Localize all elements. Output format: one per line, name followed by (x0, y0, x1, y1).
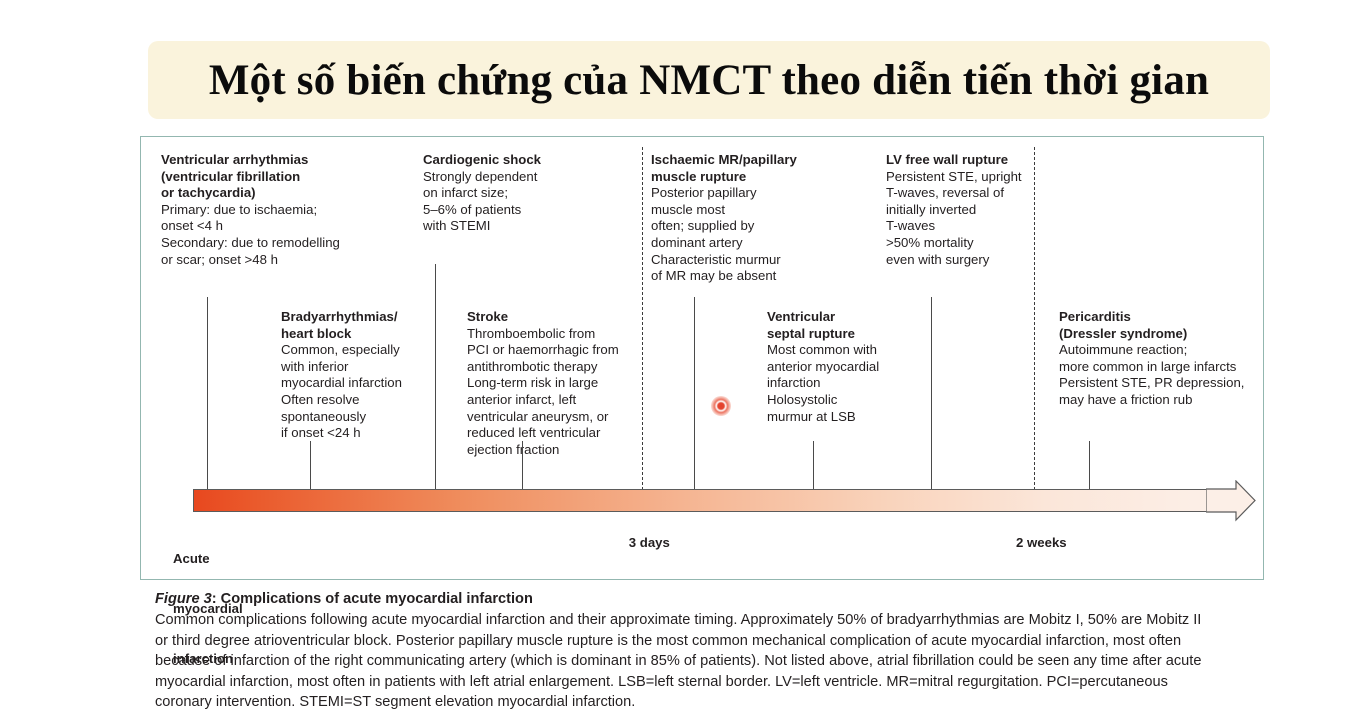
axis-label-three-days: 3 days (582, 518, 702, 568)
block-body-line: Often resolve (281, 392, 402, 409)
block-body-line: reduced left ventricular (467, 425, 619, 442)
caption-line: myocardial infarction, most often in pat… (155, 672, 1270, 692)
connector-line-stroke (522, 441, 523, 490)
block-body-line: Most common with (767, 342, 879, 359)
block-body-line: PCI or haemorrhagic from (467, 342, 619, 359)
block-ventricular-septal-rupture: Ventricular septal rupture Most common w… (767, 309, 879, 425)
connector-line-cardiogenic-shock (435, 264, 436, 490)
block-body-line: Persistent STE, PR depression, (1059, 375, 1244, 392)
block-body-line: myocardial infarction (281, 375, 402, 392)
block-body-line: Persistent STE, upright (886, 169, 1022, 186)
connector-line-lv-free-wall-rupture (931, 297, 932, 490)
block-body-line: even with surgery (886, 252, 1022, 269)
block-body-line: anterior myocardial (767, 359, 879, 376)
slide-title-banner: Một số biến chứng của NMCT theo diễn tiế… (148, 41, 1270, 119)
block-heading-line: Ventricular arrhythmias (161, 152, 340, 169)
block-stroke: Stroke Thromboembolic from PCI or haemor… (467, 309, 619, 458)
figure-panel: Ventricular arrhythmias (ventricular fib… (140, 136, 1264, 580)
block-heading-line: Ventricular (767, 309, 879, 326)
block-heading-line: septal rupture (767, 326, 879, 343)
block-heading-line: (Dressler syndrome) (1059, 326, 1244, 343)
figure-caption: Figure 3: Complications of acute myocard… (155, 589, 1270, 712)
block-body-line: with inferior (281, 359, 402, 376)
timeline-axis (193, 489, 1255, 513)
page-title: Một số biến chứng của NMCT theo diễn tiế… (209, 56, 1209, 105)
caption-figure-label: Figure 3 (155, 591, 212, 607)
block-lv-free-wall-rupture: LV free wall rupture Persistent STE, upr… (886, 152, 1022, 268)
block-body-line: onset <4 h (161, 218, 340, 235)
block-body-line: Primary: due to ischaemia; (161, 202, 340, 219)
caption-line: or third degree atrioventricular block. … (155, 631, 1270, 651)
block-body-line: initially inverted (886, 202, 1022, 219)
block-body-line: Characteristic murmur (651, 252, 797, 269)
block-body-line: Holosystolic (767, 392, 879, 409)
block-body-line: dominant artery (651, 235, 797, 252)
block-heading-line: Pericarditis (1059, 309, 1244, 326)
block-heading-line: Cardiogenic shock (423, 152, 541, 169)
connector-line-ventricular-septal-rupture (813, 441, 814, 490)
block-body-line: Strongly dependent (423, 169, 541, 186)
caption-line: because of infarction of the right commu… (155, 651, 1270, 671)
block-body-line: infarction (767, 375, 879, 392)
connector-line-pericarditis (1089, 441, 1090, 490)
block-pericarditis: Pericarditis (Dressler syndrome) Autoimm… (1059, 309, 1244, 409)
block-heading-line: heart block (281, 326, 402, 343)
block-body-line: Secondary: due to remodelling (161, 235, 340, 252)
block-bradyarrhythmias-heart-block: Bradyarrhythmias/ heart block Common, es… (281, 309, 402, 442)
block-body-line: on infarct size; (423, 185, 541, 202)
block-body-line: if onset <24 h (281, 425, 402, 442)
connector-line-ventricular-arrhythmias (207, 297, 208, 490)
block-body-line: 5–6% of patients (423, 202, 541, 219)
block-heading-line: or tachycardia) (161, 185, 340, 202)
connector-line-two-weeks (1034, 147, 1035, 490)
caption-line: Common complications following acute myo… (155, 610, 1270, 630)
block-body-line: murmur at LSB (767, 409, 879, 426)
block-body-line: with STEMI (423, 218, 541, 235)
block-body-line: anterior infarct, left (467, 392, 619, 409)
block-heading-line: LV free wall rupture (886, 152, 1022, 169)
block-body-line: Long-term risk in large (467, 375, 619, 392)
axis-label-text: 2 weeks (1016, 535, 1067, 550)
click-indicator (711, 396, 731, 416)
block-body-line: of MR may be absent (651, 268, 797, 285)
block-body-line: Common, especially (281, 342, 402, 359)
caption-title: Figure 3: Complications of acute myocard… (155, 589, 1270, 609)
block-cardiogenic-shock: Cardiogenic shock Strongly dependent on … (423, 152, 541, 235)
block-heading-line: (ventricular fibrillation (161, 169, 340, 186)
block-body-line: Posterior papillary (651, 185, 797, 202)
block-body-line: spontaneously (281, 409, 402, 426)
caption-body: Common complications following acute myo… (155, 610, 1270, 712)
block-body-line: ventricular aneurysm, or (467, 409, 619, 426)
timeline-gradient-bar (193, 489, 1208, 512)
connector-line-bradyarrhythmias (310, 441, 311, 490)
connector-line-ischaemic-mr (694, 297, 695, 490)
block-body-line: more common in large infarcts (1059, 359, 1244, 376)
block-body-line: Thromboembolic from (467, 326, 619, 343)
block-body-line: antithrombotic therapy (467, 359, 619, 376)
block-body-line: T-waves (886, 218, 1022, 235)
block-heading-line: Ischaemic MR/papillary (651, 152, 797, 169)
block-body-line: Autoimmune reaction; (1059, 342, 1244, 359)
block-body-line: often; supplied by (651, 218, 797, 235)
connector-line-three-days (642, 147, 643, 490)
axis-label-text: 3 days (629, 535, 670, 550)
caption-title-text: : Complications of acute myocardial infa… (212, 591, 533, 607)
block-ischaemic-mr-papillary-muscle-rupture: Ischaemic MR/papillary muscle rupture Po… (651, 152, 797, 285)
block-body-line: T-waves, reversal of (886, 185, 1022, 202)
block-ventricular-arrhythmias: Ventricular arrhythmias (ventricular fib… (161, 152, 340, 268)
block-heading-line: Bradyarrhythmias/ (281, 309, 402, 326)
block-body-line: >50% mortality (886, 235, 1022, 252)
axis-label-two-weeks: 2 weeks (974, 518, 1094, 568)
block-heading-line: muscle rupture (651, 169, 797, 186)
block-heading-line: Stroke (467, 309, 619, 326)
caption-line: coronary intervention. STEMI=ST segment … (155, 692, 1270, 712)
block-body-line: muscle most (651, 202, 797, 219)
block-body-line: ejection fraction (467, 442, 619, 459)
block-body-line: or scar; onset >48 h (161, 252, 340, 269)
block-body-line: may have a friction rub (1059, 392, 1244, 409)
axis-label-line: Acute (173, 551, 243, 568)
